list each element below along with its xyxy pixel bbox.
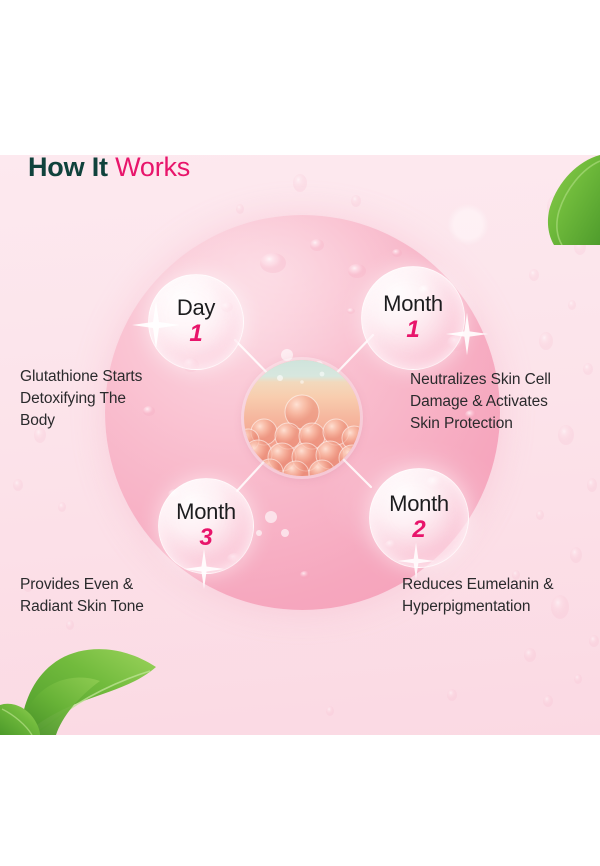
step-number: 3 bbox=[199, 525, 212, 550]
pink-panel: Day 1 Month 1 Month 2 Month 3 bbox=[0, 155, 600, 735]
page-title-accent: Works bbox=[115, 152, 190, 182]
step-number: 1 bbox=[406, 317, 419, 342]
step-caption-day-1: Glutathione Starts Detoxifying The Body bbox=[20, 366, 220, 432]
step-bubble-month-2[interactable]: Month 2 bbox=[369, 468, 469, 568]
step-number: 2 bbox=[412, 517, 425, 542]
step-bubble-month-3[interactable]: Month 3 bbox=[158, 478, 254, 574]
tea-leaves-icon bbox=[0, 635, 175, 735]
step-caption-month-2: Reduces Eumelanin & Hyperpigmentation bbox=[402, 574, 598, 618]
step-number: 1 bbox=[189, 321, 202, 346]
step-caption-month-3: Provides Even & Radiant Skin Tone bbox=[20, 574, 220, 618]
step-bubble-month-1[interactable]: Month 1 bbox=[361, 266, 465, 370]
step-label: Month bbox=[389, 493, 449, 516]
center-skin-image bbox=[244, 360, 360, 476]
step-label: Month bbox=[383, 293, 443, 316]
step-caption-month-1: Neutralizes Skin Cell Damage & Activates… bbox=[410, 369, 596, 435]
tea-leaf-icon bbox=[530, 155, 600, 245]
page-title: How It Works bbox=[28, 152, 190, 183]
step-label: Month bbox=[176, 501, 236, 524]
page-title-primary: How It bbox=[28, 152, 115, 182]
step-label: Day bbox=[177, 297, 215, 320]
step-bubble-day-1[interactable]: Day 1 bbox=[148, 274, 244, 370]
infographic-root: Day 1 Month 1 Month 2 Month 3 bbox=[0, 0, 600, 866]
